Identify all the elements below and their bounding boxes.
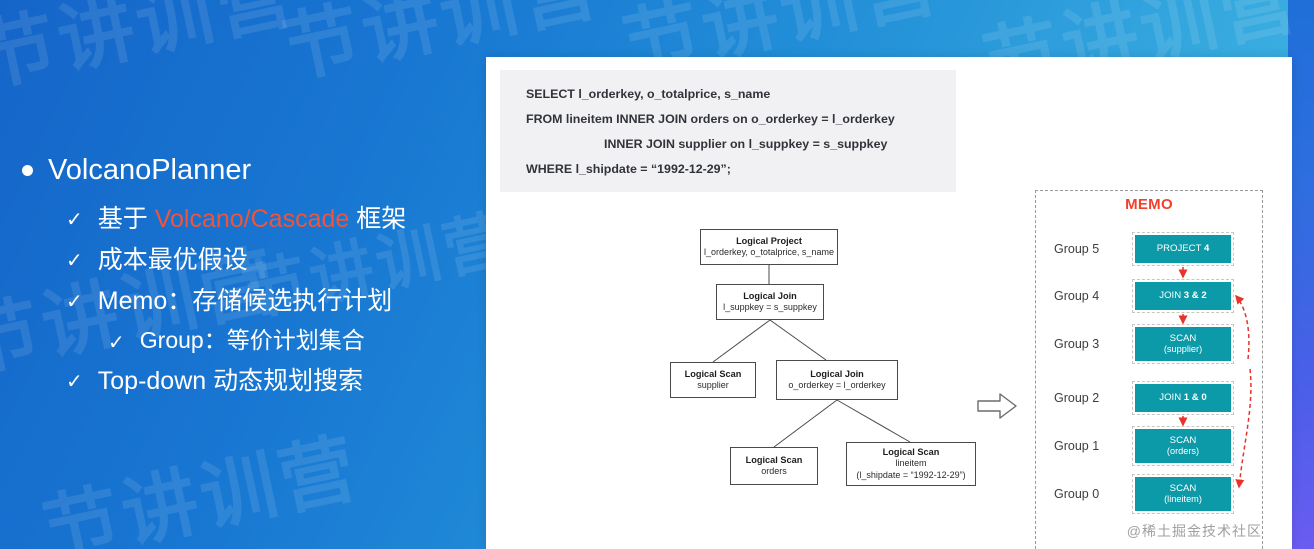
bullet-label: 基于 Volcano/Cascade 框架 <box>98 203 407 235</box>
memo-group-row-0: Group 0 SCAN (lineitem) <box>1036 474 1264 514</box>
memo-op: SCAN <box>1170 333 1197 345</box>
plan-node-logical-scan-lineitem[interactable]: Logical Scan lineitem (l_shipdate = “199… <box>846 442 976 486</box>
bullet-text-highlight: Volcano/Cascade <box>155 205 350 233</box>
plan-node-title: Logical Join <box>810 368 864 380</box>
bullet-label: VolcanoPlanner <box>48 152 251 189</box>
memo-expression-text: JOIN 1 & 0 <box>1159 392 1206 404</box>
plan-node-filter: (l_shipdate = “1992-12-29”) <box>856 470 965 482</box>
memo-expression-join[interactable]: JOIN 3 & 2 <box>1135 282 1231 310</box>
memo-group-row-5: Group 5 PROJECT 4 <box>1036 232 1264 266</box>
memo-group-slot[interactable]: SCAN (supplier) <box>1132 324 1234 364</box>
memo-op: SCAN <box>1170 435 1197 447</box>
memo-group-label: Group 2 <box>1036 391 1132 405</box>
memo-group-label: Group 1 <box>1036 439 1132 453</box>
plan-node-logical-scan-supplier[interactable]: Logical Scan supplier <box>670 362 756 398</box>
memo-panel: MEMO Group 5 <box>1035 190 1263 549</box>
bullet-item-cost-optimal: ✓ 成本最优假设 <box>0 244 470 276</box>
bullet-label: Top-down 动态规划搜索 <box>98 365 363 397</box>
bullet-text-pre: 基于 <box>98 205 155 233</box>
plan-node-detail: lineitem <box>895 458 926 470</box>
bullet-item-memo: ✓ Memo：存储候选执行计划 <box>0 285 470 317</box>
plan-node-title: Logical Scan <box>685 368 742 380</box>
memo-op: SCAN <box>1170 483 1197 495</box>
plan-node-title: Logical Project <box>736 235 802 247</box>
checkmark-icon: ✓ <box>108 333 125 353</box>
bullet-label: 成本最优假设 <box>98 244 248 276</box>
memo-expression-scan-orders[interactable]: SCAN (orders) <box>1135 429 1231 463</box>
plan-node-logical-scan-orders[interactable]: Logical Scan orders <box>730 447 818 485</box>
memo-op: JOIN <box>1159 392 1184 403</box>
bullet-dot-icon <box>22 165 33 176</box>
memo-group-label: Group 4 <box>1036 289 1132 303</box>
content-panel: SELECT l_orderkey, o_totalprice, s_name … <box>486 57 1292 549</box>
memo-group-row-2: Group 2 JOIN 1 & 0 <box>1036 381 1264 415</box>
memo-group-label: Group 0 <box>1036 487 1132 501</box>
memo-operands: (supplier) <box>1164 344 1202 355</box>
plan-node-logical-join-supplier[interactable]: Logical Join l_suppkey = s_suppkey <box>716 284 824 320</box>
background-watermark: 节讲训营 <box>32 406 368 549</box>
memo-group-slot[interactable]: JOIN 3 & 2 <box>1132 279 1234 313</box>
checkmark-icon: ✓ <box>66 372 83 392</box>
bullet-item-framework: ✓ 基于 Volcano/Cascade 框架 <box>0 203 470 235</box>
plan-node-detail: o_orderkey = l_orderkey <box>788 380 885 392</box>
memo-operands: (orders) <box>1167 446 1199 457</box>
bullet-label: Group：等价计划集合 <box>140 326 365 355</box>
background-watermark: 节讲训营 <box>0 0 304 106</box>
bullet-item-topdown: ✓ Top-down 动态规划搜索 <box>0 365 470 397</box>
checkmark-icon: ✓ <box>66 292 83 312</box>
bullet-item-volcanoplanner: VolcanoPlanner <box>0 152 470 189</box>
memo-title: MEMO <box>1036 196 1262 213</box>
plan-node-title: Logical Scan <box>746 454 803 466</box>
memo-expression-text: PROJECT 4 <box>1157 243 1210 255</box>
memo-expression-text: JOIN 3 & 2 <box>1159 290 1206 302</box>
memo-group-label: Group 5 <box>1036 242 1132 256</box>
plan-node-detail: supplier <box>697 380 729 392</box>
memo-operands: (lineitem) <box>1164 494 1202 505</box>
plan-node-detail: l_suppkey = s_suppkey <box>723 302 817 314</box>
memo-group-slot[interactable]: SCAN (orders) <box>1132 426 1234 466</box>
memo-group-slot[interactable]: SCAN (lineitem) <box>1132 474 1234 514</box>
plan-node-logical-join-orders[interactable]: Logical Join o_orderkey = l_orderkey <box>776 360 898 400</box>
memo-group-row-4: Group 4 JOIN 3 & 2 <box>1036 279 1264 313</box>
memo-group-row-3: Group 3 SCAN (supplier) <box>1036 324 1264 364</box>
memo-expression-project[interactable]: PROJECT 4 <box>1135 235 1231 263</box>
memo-expression-scan-lineitem[interactable]: SCAN (lineitem) <box>1135 477 1231 511</box>
plan-node-detail: l_orderkey, o_totalprice, s_name <box>704 247 834 259</box>
plan-node-logical-project[interactable]: Logical Project l_orderkey, o_totalprice… <box>700 229 838 265</box>
memo-op: PROJECT <box>1157 243 1204 254</box>
memo-operands: 4 <box>1204 243 1209 254</box>
corner-watermark: @稀土掘金技术社区 <box>1127 521 1262 541</box>
bullet-item-group: ✓ Group：等价计划集合 <box>0 326 470 355</box>
memo-operands: 3 & 2 <box>1184 290 1207 301</box>
bullet-text-post: 框架 <box>349 205 406 233</box>
memo-group-label: Group 3 <box>1036 337 1132 351</box>
memo-expression-scan-supplier[interactable]: SCAN (supplier) <box>1135 327 1231 361</box>
plan-node-title: Logical Scan <box>883 446 940 458</box>
memo-expression-join-2[interactable]: JOIN 1 & 0 <box>1135 384 1231 412</box>
bullet-list: VolcanoPlanner ✓ 基于 Volcano/Cascade 框架 ✓… <box>0 152 470 406</box>
plan-node-detail: orders <box>761 466 787 478</box>
right-arrow-icon <box>976 391 1018 421</box>
memo-operands: 1 & 0 <box>1184 392 1207 403</box>
memo-group-row-1: Group 1 SCAN (orders) <box>1036 426 1264 466</box>
bullet-label: Memo：存储候选执行计划 <box>98 285 392 317</box>
memo-group-slot[interactable]: PROJECT 4 <box>1132 232 1234 266</box>
slide-root: 节讲训营 节讲训营 节讲训营 节讲训营 节讲训营 节讲训营 节讲训营 Volca… <box>0 0 1314 549</box>
memo-op: JOIN <box>1159 290 1184 301</box>
plan-node-title: Logical Join <box>743 290 797 302</box>
checkmark-icon: ✓ <box>66 251 83 271</box>
checkmark-icon: ✓ <box>66 210 83 230</box>
memo-group-slot[interactable]: JOIN 1 & 0 <box>1132 381 1234 415</box>
